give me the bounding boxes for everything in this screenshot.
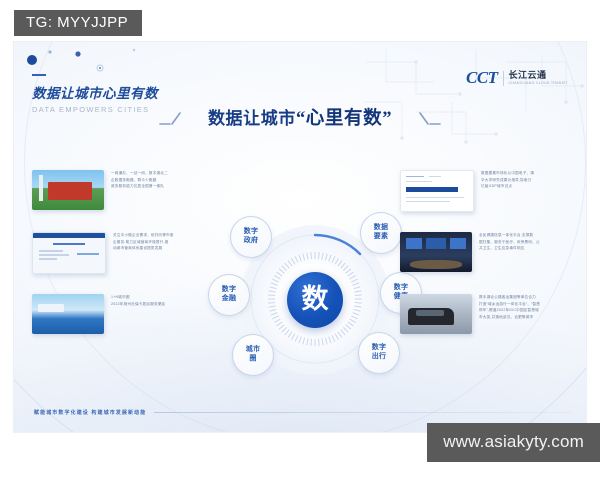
caption-line: 华大学研究成果为指导,探索万 bbox=[481, 177, 534, 184]
logo-name-en: CHANGJIANG CLOUD TRANSIT bbox=[509, 82, 568, 86]
card-gov-service[interactable]: 一网通办、一证一码，数字湖北二 企数据多跑路、群众少跑腿 政务服务能力位居全国第… bbox=[32, 170, 200, 210]
hub-node-digital-travel[interactable]: 数字 出行 bbox=[358, 332, 400, 374]
caption-line: 停车”,覆盖2022年IDC中国区智慧城 bbox=[479, 307, 540, 314]
caption-line: 1+N城市圈 bbox=[111, 294, 165, 301]
logo-name: 长江云通 CHANGJIANG CLOUD TRANSIT bbox=[509, 71, 568, 86]
hub-node-digital-finance[interactable]: 数字 金融 bbox=[208, 274, 250, 316]
card-caption: 一网通办、一证一码，数字湖北二 企数据多跑路、群众少跑腿 政务服务能力位居全国第… bbox=[111, 170, 168, 190]
node-label-line2: 要素 bbox=[374, 233, 389, 242]
news-article-thumbnail bbox=[400, 170, 474, 212]
logo-divider bbox=[503, 71, 504, 86]
node-label-line1: 数据 bbox=[374, 224, 389, 233]
slide-footer: 赋能城市数字化建设 构建城市发展新动能 bbox=[34, 409, 572, 416]
title-left-ornament-icon bbox=[158, 107, 198, 127]
title-right-ornament-icon bbox=[402, 107, 442, 127]
caption-line: 关注中小微企业需求，依托问等市惠 bbox=[113, 232, 174, 239]
page-title: 数据让城市“心里有数” bbox=[208, 104, 392, 130]
card-health-platform[interactable]: 全民健康信息一体化平台,支撑数 据归集、服务于医疗、床旁黑码、公 共卫生、卫生应… bbox=[400, 232, 568, 272]
main-title-quoted: “心里有数” bbox=[296, 109, 392, 129]
caption-line: 动城市营商体系建设提质发展 bbox=[113, 245, 174, 252]
node-label-line1: 数字 bbox=[394, 284, 409, 293]
caption-line: 全民健康信息一体化平台,支撑数 bbox=[479, 232, 540, 239]
caption-line: 据归集、服务于医疗、床旁黑码、公 bbox=[479, 239, 540, 246]
hub-core: 数 bbox=[287, 272, 343, 328]
node-label-line1: 城市 bbox=[246, 346, 261, 355]
waterfront-photo-thumbnail bbox=[32, 294, 104, 334]
card-caption: 全民健康信息一体化平台,支撑数 据归集、服务于医疗、床旁黑码、公 共卫生、卫生应… bbox=[479, 232, 540, 252]
card-data-governance-news[interactable]: 数据要素市场化以中国电子、清 华大学研究成果为指导,探索万 亿级GDP城市试点 bbox=[400, 170, 568, 212]
vehicle-photo-thumbnail bbox=[400, 294, 472, 334]
company-logo: CCT 长江云通 CHANGJIANG CLOUD TRANSIT bbox=[466, 68, 568, 88]
site-watermark: www.asiakyty.com bbox=[427, 423, 600, 462]
caption-line: 企数据多跑路、群众少跑腿 bbox=[111, 177, 168, 184]
caption-line: 携手湖北公路客运集团等单位合力 bbox=[479, 294, 540, 301]
caption-line: 数据要素市场化以中国电子、清 bbox=[481, 170, 534, 177]
caption-line: 亿级GDP城市试点 bbox=[481, 183, 534, 190]
card-caption: 数据要素市场化以中国电子、清 华大学研究成果为指导,探索万 亿级GDP城市试点 bbox=[481, 170, 534, 190]
node-label-line2: 圈 bbox=[249, 355, 256, 364]
card-sme-platform[interactable]: 关注中小微企业需求，依托问等市惠 企服务,助力区域营商环境提升,推 动城市营商体… bbox=[32, 232, 200, 274]
card-caption: 关注中小微企业需求，依托问等市惠 企服务,助力区域营商环境提升,推 动城市营商体… bbox=[113, 232, 174, 252]
card-smart-water[interactable]: 1+N城市圈 2022年荆州社保卡居民服务便民 bbox=[32, 294, 200, 334]
slide-canvas: 数据让城市心里有数 DATA EMPOWERS CITIES CCT 长江云通 … bbox=[14, 42, 586, 432]
circuit-pattern-icon bbox=[356, 42, 586, 162]
tg-tag: TG: MYYJJPP bbox=[14, 10, 142, 36]
header-rule bbox=[32, 74, 46, 76]
main-title-block: 数据让城市“心里有数” bbox=[14, 104, 586, 130]
node-label-line2: 政府 bbox=[244, 237, 259, 246]
main-title-lead: 数据让城市 bbox=[208, 109, 296, 128]
node-label-line2: 金融 bbox=[222, 295, 237, 304]
card-caption: 携手湖北公路客运集团等单位合力 打造“城乡运游行一体化平台”、“智慧 停车”,覆… bbox=[479, 294, 540, 321]
caption-line: 政务服务能力位居全国第一梯队 bbox=[111, 183, 168, 190]
footer-line bbox=[154, 412, 572, 413]
city-building-photo-thumbnail bbox=[32, 170, 104, 210]
hub-node-data-element[interactable]: 数据 要素 bbox=[360, 212, 402, 254]
card-caption: 1+N城市圈 2022年荆州社保卡居民服务便民 bbox=[111, 294, 165, 307]
webpage-screenshot-thumbnail bbox=[32, 232, 106, 274]
caption-line: 一网通办、一证一码，数字湖北二 bbox=[111, 170, 168, 177]
meeting-room-photo-thumbnail bbox=[400, 232, 472, 272]
card-smart-travel[interactable]: 携手湖北公路客运集团等单位合力 打造“城乡运游行一体化平台”、“智慧 停车”,覆… bbox=[400, 294, 568, 334]
hub-node-digital-government[interactable]: 数字 政府 bbox=[230, 216, 272, 258]
header-title-zh: 数据让城市心里有数 bbox=[32, 82, 158, 102]
hub-diagram: 数 数字 政府 数据 要素 数字 金融 数字 健康 城市 圈 数字 出行 bbox=[210, 212, 420, 387]
caption-line: 打造“城乡运游行一体化平台”、“智慧 bbox=[479, 301, 540, 308]
caption-line: 市大奖,并落地武汉、合肥等城市 bbox=[479, 314, 540, 321]
footer-text: 赋能城市数字化建设 构建城市发展新动能 bbox=[34, 409, 146, 416]
hub-node-city-circle[interactable]: 城市 圈 bbox=[232, 334, 274, 376]
node-label-line2: 出行 bbox=[372, 353, 387, 362]
logo-name-zh: 长江云通 bbox=[509, 71, 568, 80]
caption-line: 共卫生、卫生应急事件响应 bbox=[479, 245, 540, 252]
hub-core-label: 数 bbox=[302, 286, 329, 313]
caption-line: 企服务,助力区域营商环境提升,推 bbox=[113, 239, 174, 246]
node-label-line1: 数字 bbox=[244, 228, 259, 237]
node-label-line1: 数字 bbox=[222, 286, 237, 295]
logo-mark: CCT bbox=[466, 68, 498, 88]
caption-line: 2022年荆州社保卡居民服务便民 bbox=[111, 301, 165, 308]
node-label-line1: 数字 bbox=[372, 344, 387, 353]
